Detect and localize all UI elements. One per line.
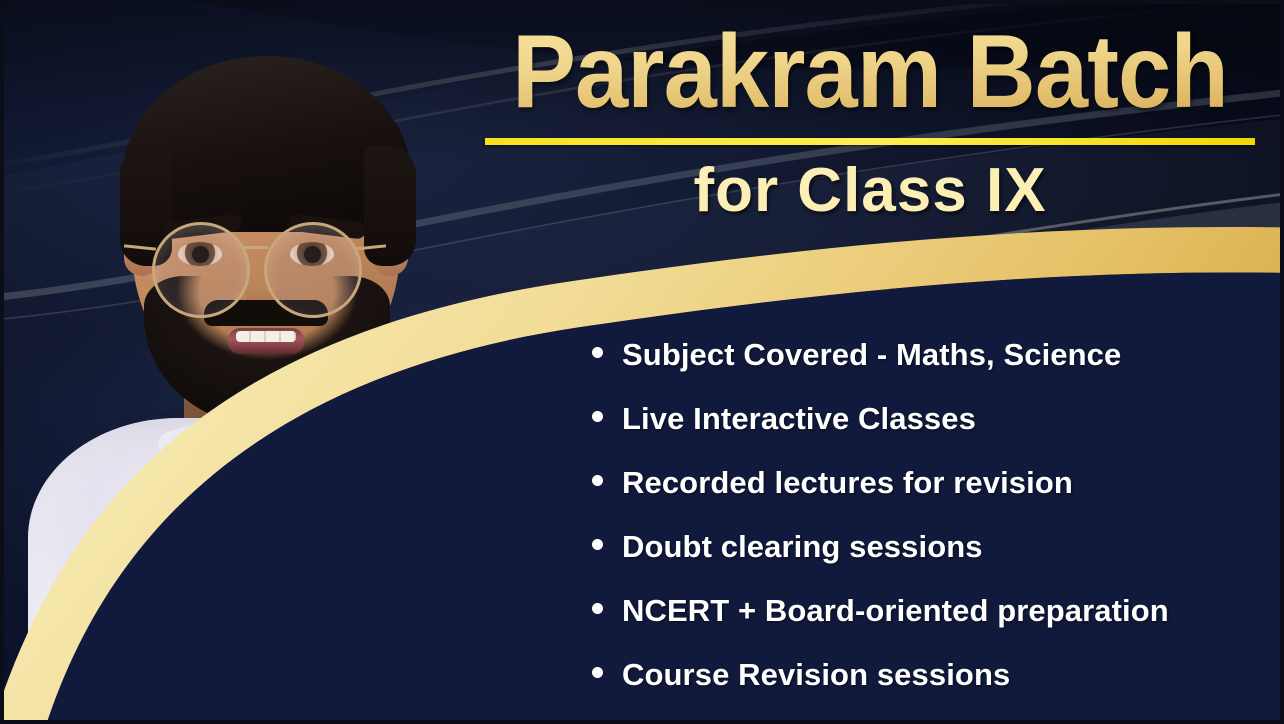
list-item: Course Revision sessions	[592, 658, 1282, 722]
bullet-dot-icon	[592, 539, 603, 550]
bullet-dot-icon	[592, 603, 603, 614]
bullet-dot-icon	[592, 347, 603, 358]
list-item: Recorded lectures for revision	[592, 466, 1282, 530]
promo-poster: A 2 Parakram	[0, 0, 1284, 724]
bullet-dot-icon	[592, 475, 603, 486]
feature-label: NCERT + Board-oriented preparation	[622, 594, 1169, 628]
page-title: Parakram Batch	[502, 16, 1238, 128]
list-item: Live Interactive Classes	[592, 402, 1282, 466]
title-underline-rule	[485, 138, 1255, 145]
list-item: Subject Covered - Maths, Science	[592, 338, 1282, 402]
feature-label: Live Interactive Classes	[622, 402, 976, 436]
bullet-dot-icon	[592, 411, 603, 422]
feature-label: Doubt clearing sessions	[622, 530, 983, 564]
feature-label: Recorded lectures for revision	[622, 466, 1073, 500]
feature-label: Course Revision sessions	[622, 658, 1010, 692]
bullet-dot-icon	[592, 667, 603, 678]
headline-block: Parakram Batch for Class IX	[470, 16, 1270, 225]
list-item: Doubt clearing sessions	[592, 530, 1282, 594]
feature-list: Subject Covered - Maths, Science Live In…	[592, 338, 1282, 722]
feature-label: Subject Covered - Maths, Science	[622, 338, 1121, 372]
list-item: NCERT + Board-oriented preparation	[592, 594, 1282, 658]
page-subtitle: for Class IX	[470, 157, 1270, 225]
